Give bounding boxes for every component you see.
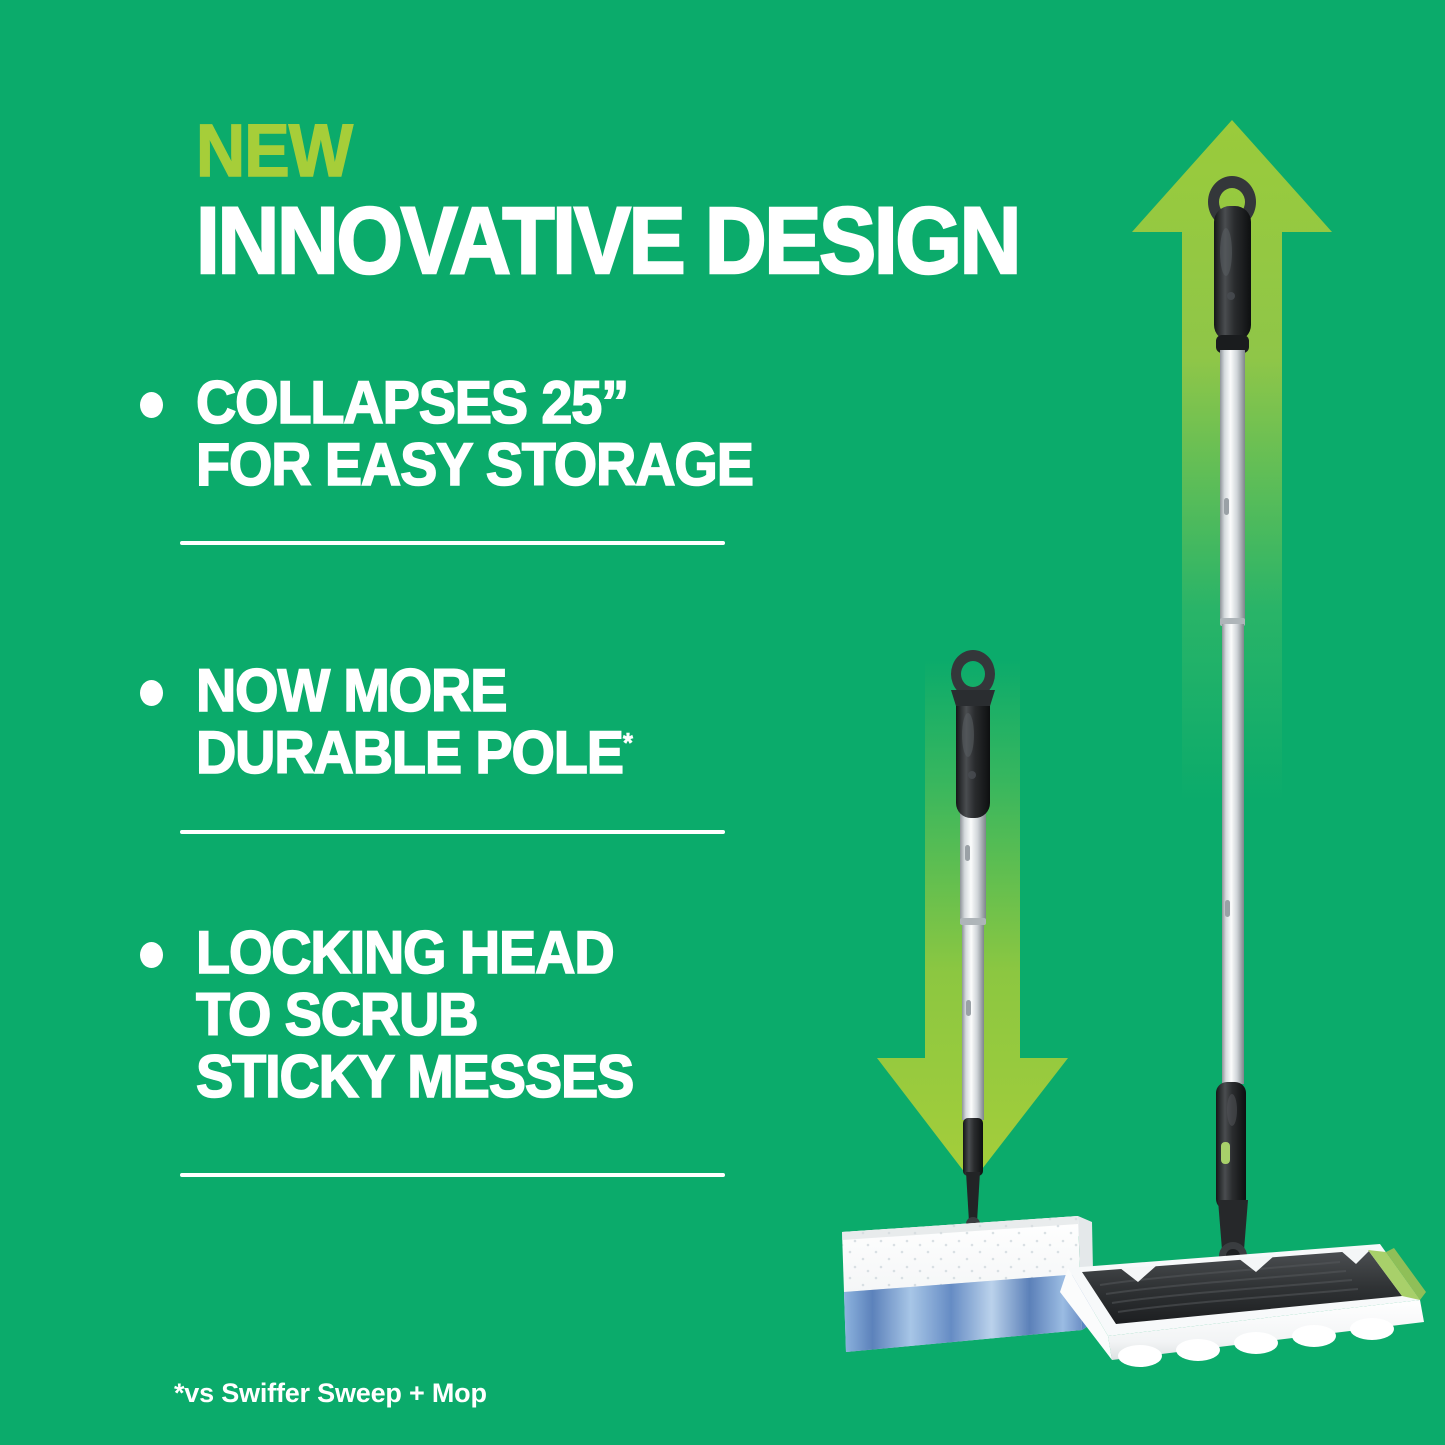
extended-mop-head (1060, 1244, 1426, 1367)
kicker-new: NEW (196, 116, 352, 186)
footnote-marker: * (623, 727, 632, 758)
feature-divider (180, 541, 725, 545)
feature-line: LOCKING HEAD (196, 922, 633, 984)
feature-item-durable-pole: NOW MORE DURABLE POLE* (140, 660, 665, 784)
product-illustration (820, 0, 1445, 1445)
footnote-text: *vs Swiffer Sweep + Mop (174, 1378, 487, 1409)
feature-line: COLLAPSES 25” (196, 372, 753, 434)
feature-line: STICKY MESSES (196, 1046, 633, 1108)
feature-item-locking-head: LOCKING HEAD TO SCRUB STICKY MESSES (140, 922, 666, 1107)
feature-line: TO SCRUB (196, 984, 633, 1046)
feature-item-collapses: COLLAPSES 25” FOR EASY STORAGE (140, 372, 795, 496)
feature-text-collapses: COLLAPSES 25” FOR EASY STORAGE (196, 372, 753, 496)
feature-line: DURABLE POLE* (196, 722, 632, 784)
feature-divider (180, 1173, 725, 1177)
bullet-dot-icon (140, 392, 163, 418)
collapsed-mop-pad (842, 1216, 1094, 1352)
text-column: NEW INNOVATIVE DESIGN COLLAPSES 25” FOR … (0, 0, 830, 1445)
collapsed-swiffer-mop (842, 650, 1094, 1352)
product-feature-graphic: NEW INNOVATIVE DESIGN COLLAPSES 25” FOR … (0, 0, 1445, 1445)
feature-text-durable-pole: NOW MORE DURABLE POLE* (196, 660, 632, 784)
bullet-dot-icon (140, 680, 163, 706)
extended-swiffer-mop (1060, 176, 1426, 1367)
feature-line: FOR EASY STORAGE (196, 434, 753, 496)
feature-divider (180, 830, 725, 834)
feature-text-locking-head: LOCKING HEAD TO SCRUB STICKY MESSES (196, 922, 633, 1107)
feature-line-text: DURABLE POLE (196, 719, 623, 786)
bullet-dot-icon (140, 942, 163, 968)
feature-line: NOW MORE (196, 660, 632, 722)
